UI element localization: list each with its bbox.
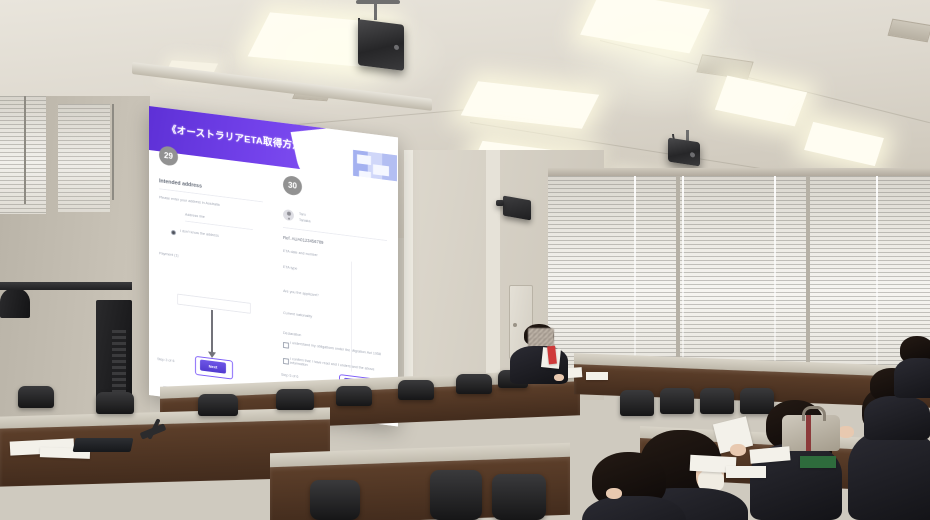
chair[interactable] xyxy=(740,388,774,414)
window-blinds[interactable] xyxy=(548,176,930,384)
chair[interactable] xyxy=(198,394,238,416)
classroom-photo: 《オーストラリアETA取得方法》 29 Intended address Ple… xyxy=(0,0,930,520)
laptop[interactable] xyxy=(73,438,134,452)
ceiling-speaker xyxy=(668,137,700,166)
blind-pull-cord[interactable] xyxy=(682,176,684,384)
slide-title: 《オーストラリアETA取得方法》 xyxy=(167,121,312,153)
chair[interactable] xyxy=(96,392,134,414)
papers xyxy=(586,372,608,380)
slide-field-label-right: ETA type xyxy=(283,265,297,271)
slide-text-input[interactable] xyxy=(177,294,251,314)
blind-pull-cord[interactable] xyxy=(634,176,636,384)
blind-cord[interactable] xyxy=(112,104,114,200)
projector-mount-rod xyxy=(374,2,377,20)
slide-footer-label-left: Payment (1) xyxy=(159,251,179,257)
wall-speaker-bracket xyxy=(496,200,504,206)
torso xyxy=(864,396,930,440)
slide-radio-label: I don't know the address xyxy=(180,229,219,238)
hand xyxy=(554,374,564,381)
chair[interactable] xyxy=(700,388,734,414)
blind-pull-cord[interactable] xyxy=(876,176,878,384)
hand xyxy=(838,426,854,438)
slide-pane-left: 29 Intended address Please enter your ad… xyxy=(149,150,274,411)
podium-console xyxy=(0,288,30,318)
left-window-blind[interactable] xyxy=(0,96,46,214)
torso xyxy=(894,358,930,398)
wall-pillar xyxy=(404,150,413,386)
slide-declaration-text: I understand my obligations under the Mi… xyxy=(290,341,382,357)
papers xyxy=(726,466,766,478)
blind-panel[interactable] xyxy=(548,176,678,384)
projector-lens xyxy=(394,44,399,50)
papers xyxy=(800,456,836,468)
hand xyxy=(730,444,746,456)
torso xyxy=(848,430,930,520)
slide-field-underline xyxy=(185,221,253,231)
chair[interactable] xyxy=(18,386,54,408)
blind-panel[interactable] xyxy=(678,176,808,384)
chair[interactable] xyxy=(310,480,360,520)
slide-checkbox[interactable] xyxy=(283,358,289,364)
slide-checkbox[interactable] xyxy=(283,342,289,348)
slide-field-label-left: Address line xyxy=(185,213,205,219)
chair[interactable] xyxy=(398,380,434,400)
slide-field-label-right: Declaration xyxy=(283,331,301,337)
annotation-arrow-stem xyxy=(211,310,213,354)
slide-reference-label: Ref. AUA0123456789 xyxy=(283,235,324,245)
slide-field-label-right: Current nationality xyxy=(283,311,312,319)
handbag[interactable] xyxy=(782,415,840,451)
ceiling-projector xyxy=(358,19,404,71)
pixel-block xyxy=(373,164,389,176)
slide-field-label-right: Are you the applicant? xyxy=(283,289,319,298)
window-mullion xyxy=(676,176,680,384)
slide-step-badge-right: 30 xyxy=(283,175,302,196)
slide-radio-option[interactable] xyxy=(171,230,176,236)
chair[interactable] xyxy=(620,390,654,416)
bag-stripe xyxy=(806,415,811,451)
slide-avatar-line1: Taro xyxy=(299,212,306,217)
podium-top xyxy=(0,282,132,290)
chair[interactable] xyxy=(430,470,482,520)
slide-field-label-right: ETA date and number xyxy=(283,249,318,257)
slide-consent-text: I confirm that I have read and I underst… xyxy=(290,357,382,377)
slide-vertical-rule xyxy=(351,262,352,372)
chair[interactable] xyxy=(456,374,492,394)
blind-cord[interactable] xyxy=(24,96,26,204)
chair[interactable] xyxy=(660,388,694,414)
chair[interactable] xyxy=(492,474,546,520)
slide-step-counter-right: Step 5 of 6 xyxy=(281,373,298,379)
projector-mount-bracket xyxy=(356,0,400,4)
left-window-blind[interactable] xyxy=(58,104,110,212)
blind-pull-cord[interactable] xyxy=(774,176,776,384)
slide-avatar xyxy=(283,209,294,221)
door-knob[interactable] xyxy=(513,323,517,327)
hand xyxy=(606,488,622,499)
slide-step-counter-left: Step 3 of 6 xyxy=(157,357,174,363)
slide-heading-left: Intended address xyxy=(159,178,202,189)
pixel-block xyxy=(357,154,371,165)
chair[interactable] xyxy=(336,386,372,406)
speaker-port xyxy=(690,152,695,158)
wall-pillar xyxy=(486,150,500,380)
chair[interactable] xyxy=(276,389,314,410)
slide-avatar-line2: Tanaka xyxy=(299,218,311,223)
window-mullion xyxy=(806,176,810,384)
slide-subheading-left: Please enter your address in Australia xyxy=(159,195,220,207)
